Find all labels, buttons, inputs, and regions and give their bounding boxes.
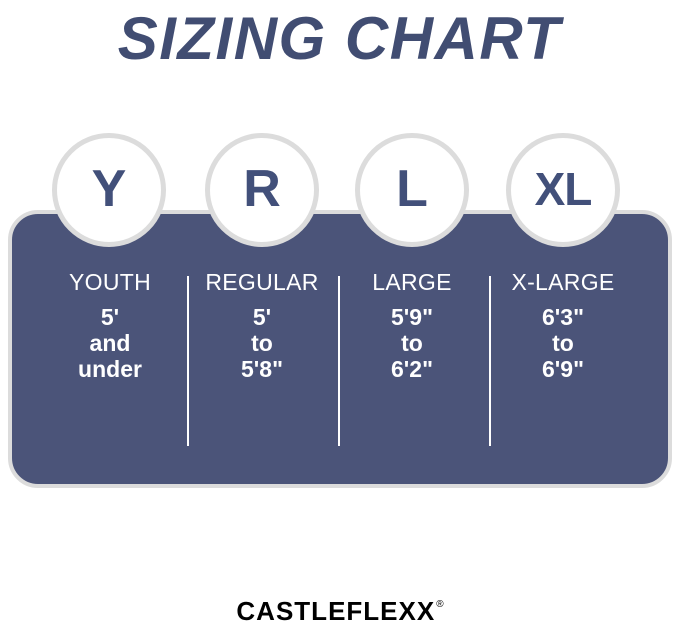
size-badge-letter-youth: Y (92, 163, 127, 215)
size-range-large: 5'9" to 6'2" (337, 304, 487, 382)
size-name-large: LARGE (337, 268, 487, 296)
size-range-youth-line-3: under (35, 356, 185, 382)
size-badge-youth: Y (52, 133, 166, 247)
size-badge-letter-regular: R (243, 163, 281, 215)
brand-logo-text: CASTLEFLEXX (236, 596, 435, 626)
size-column-xlarge: X-LARGE 6'3" to 6'9" (488, 268, 638, 382)
size-range-xlarge: 6'3" to 6'9" (488, 304, 638, 382)
registered-trademark-icon: ® (436, 599, 443, 610)
size-range-regular-line-2: to (187, 330, 337, 356)
size-name-xlarge: X-LARGE (488, 268, 638, 296)
size-column-youth: YOUTH 5' and under (35, 268, 185, 382)
size-range-regular-line-1: 5' (187, 304, 337, 330)
size-range-large-line-3: 6'2" (337, 356, 487, 382)
page-title: SIZING CHART (0, 4, 679, 74)
size-range-regular: 5' to 5'8" (187, 304, 337, 382)
size-badge-regular: R (205, 133, 319, 247)
size-range-xlarge-line-1: 6'3" (488, 304, 638, 330)
size-column-large: LARGE 5'9" to 6'2" (337, 268, 487, 382)
size-range-xlarge-line-3: 6'9" (488, 356, 638, 382)
size-name-regular: REGULAR (187, 268, 337, 296)
brand-logo: CASTLEFLEXX® (0, 596, 679, 626)
size-range-large-line-2: to (337, 330, 487, 356)
size-range-xlarge-line-2: to (488, 330, 638, 356)
size-range-youth-line-1: 5' (35, 304, 185, 330)
size-badge-letter-xlarge: XL (535, 166, 592, 212)
size-column-regular: REGULAR 5' to 5'8" (187, 268, 337, 382)
size-badge-letter-large: L (396, 163, 428, 215)
size-range-youth-line-2: and (35, 330, 185, 356)
size-columns: YOUTH 5' and under REGULAR 5' to 5'8" LA… (8, 210, 672, 488)
size-range-regular-line-3: 5'8" (187, 356, 337, 382)
size-badge-large: L (355, 133, 469, 247)
size-name-youth: YOUTH (35, 268, 185, 296)
size-range-youth: 5' and under (35, 304, 185, 382)
sizing-chart-graphic: SIZING CHART YOUTH 5' and under REGULAR … (0, 0, 679, 632)
size-range-large-line-1: 5'9" (337, 304, 487, 330)
size-badge-xlarge: XL (506, 133, 620, 247)
